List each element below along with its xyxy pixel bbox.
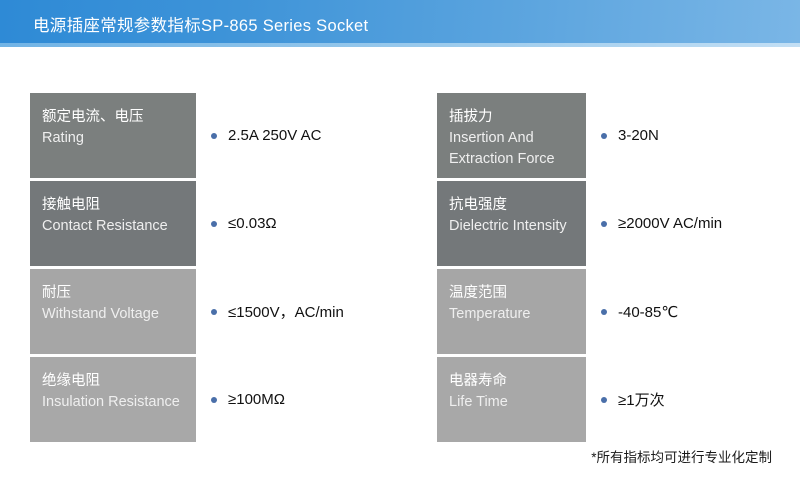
spec-row: 插拔力 Insertion And Extraction Force 3-20N	[437, 93, 799, 178]
spec-row: 接触电阻 Contact Resistance ≤0.03Ω	[30, 181, 392, 266]
spec-value: 2.5A 250V AC	[228, 127, 321, 144]
bullet-icon	[601, 309, 607, 315]
spec-value-cell: ≥2000V AC/min	[586, 181, 799, 266]
spec-value-cell: ≥1万次	[586, 357, 799, 442]
spec-column-left: 额定电流、电压 Rating 2.5A 250V AC 接触电阻 Contact…	[30, 93, 392, 445]
spec-label-en: Dielectric Intensity	[449, 216, 586, 237]
bullet-icon	[211, 309, 217, 315]
spec-label-cn: 接触电阻	[42, 195, 196, 216]
spec-value-cell: 2.5A 250V AC	[196, 93, 392, 178]
spec-row: 耐压 Withstand Voltage ≤1500V，AC/min	[30, 269, 392, 354]
spec-label-cn: 电器寿命	[449, 371, 586, 392]
bullet-icon	[601, 133, 607, 139]
spec-label-cell: 绝缘电阻 Insulation Resistance	[30, 357, 196, 442]
spec-row: 绝缘电阻 Insulation Resistance ≥100MΩ	[30, 357, 392, 442]
spec-label-en: Rating	[42, 128, 196, 149]
spec-label-cn: 绝缘电阻	[42, 371, 196, 392]
spec-label-cell: 抗电强度 Dielectric Intensity	[437, 181, 586, 266]
spec-label-en: Insulation Resistance	[42, 392, 196, 413]
spec-value: ≥100MΩ	[228, 391, 285, 408]
spec-label-cn: 插拔力	[449, 107, 586, 128]
bullet-icon	[601, 221, 607, 227]
spec-value-cell: ≤1500V，AC/min	[196, 269, 392, 354]
spec-label-cell: 温度范围 Temperature	[437, 269, 586, 354]
spec-value: ≥1万次	[618, 389, 665, 410]
spec-label-cell: 耐压 Withstand Voltage	[30, 269, 196, 354]
bullet-icon	[601, 397, 607, 403]
spec-label-cn: 抗电强度	[449, 195, 586, 216]
spec-value: ≥2000V AC/min	[618, 215, 722, 232]
spec-label-en-line2: Extraction Force	[449, 149, 586, 170]
spec-label-cell: 电器寿命 Life Time	[437, 357, 586, 442]
footnote: *所有指标均可进行专业化定制	[591, 446, 772, 466]
spec-label-en: Withstand Voltage	[42, 304, 196, 325]
spec-label-cn: 耐压	[42, 283, 196, 304]
spec-value: ≤0.03Ω	[228, 215, 277, 232]
spec-value-cell: 3-20N	[586, 93, 799, 178]
spec-label-en: Contact Resistance	[42, 216, 196, 237]
spec-table: 额定电流、电压 Rating 2.5A 250V AC 接触电阻 Contact…	[0, 47, 800, 479]
spec-label-cell: 接触电阻 Contact Resistance	[30, 181, 196, 266]
spec-label-en: Life Time	[449, 392, 586, 413]
spec-row: 温度范围 Temperature -40-85℃	[437, 269, 799, 354]
spec-label-cn: 额定电流、电压	[42, 107, 196, 128]
bullet-icon	[211, 133, 217, 139]
bullet-icon	[211, 221, 217, 227]
spec-value-cell: -40-85℃	[586, 269, 799, 354]
spec-row: 电器寿命 Life Time ≥1万次	[437, 357, 799, 442]
header-banner: 电源插座常规参数指标SP-865 Series Socket	[0, 0, 800, 47]
page-title: 电源插座常规参数指标SP-865 Series Socket	[33, 12, 368, 36]
spec-label-en: Insertion And	[449, 128, 586, 149]
spec-value: -40-85℃	[618, 303, 678, 321]
spec-label-cell: 插拔力 Insertion And Extraction Force	[437, 93, 586, 178]
spec-row: 额定电流、电压 Rating 2.5A 250V AC	[30, 93, 392, 178]
spec-value-cell: ≥100MΩ	[196, 357, 392, 442]
spec-value: 3-20N	[618, 127, 659, 144]
spec-column-right: 插拔力 Insertion And Extraction Force 3-20N…	[437, 93, 799, 445]
spec-value: ≤1500V，AC/min	[228, 301, 344, 322]
spec-label-en: Temperature	[449, 304, 586, 325]
bullet-icon	[211, 397, 217, 403]
spec-label-cell: 额定电流、电压 Rating	[30, 93, 196, 178]
spec-row: 抗电强度 Dielectric Intensity ≥2000V AC/min	[437, 181, 799, 266]
spec-value-cell: ≤0.03Ω	[196, 181, 392, 266]
spec-label-cn: 温度范围	[449, 283, 586, 304]
